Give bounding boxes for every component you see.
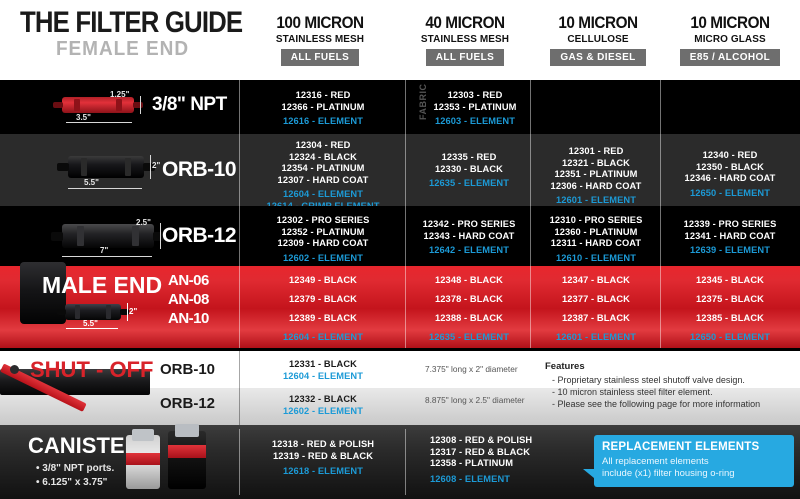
female-row-orb-12: 7" 2.5" ORB-12 12302 - PRO SERIES 12352 …: [0, 206, 800, 266]
column-divider: [530, 206, 531, 266]
dim-length-orb10: 5.5": [84, 178, 99, 187]
cell-an10-40micron: 12388 - BLACK: [410, 313, 528, 325]
dim-line-diameter: [150, 155, 151, 179]
part-code: 12330 - BLACK: [410, 164, 528, 176]
part-code-element: 12650 - ELEMENT: [664, 188, 796, 200]
cell-orb12-40micron: 12342 - PRO SERIES 12343 - HARD COAT 126…: [410, 219, 528, 257]
dim-line-length: [66, 328, 118, 329]
dim-length-orb12: 7": [100, 246, 108, 255]
part-code: 12342 - PRO SERIES: [410, 219, 528, 231]
replacement-elements-title: REPLACEMENT ELEMENTS: [602, 441, 786, 453]
column-divider: [405, 134, 406, 206]
part-code-element: 12610 - ELEMENT: [534, 253, 658, 265]
replacement-elements-callout: REPLACEMENT ELEMENTS All replacement ele…: [594, 435, 794, 487]
part-code: 12340 - RED: [664, 150, 796, 162]
part-code: 12306 - HARD COAT: [534, 181, 658, 193]
feature-item: - 10 micron stainless steel filter eleme…: [552, 387, 713, 397]
column-header-main: 100 MICRON: [248, 14, 392, 32]
callout-tail-icon: [583, 469, 594, 478]
cell-an08-10micron-microglass: 12375 - BLACK: [664, 294, 796, 306]
column-divider: [530, 266, 531, 348]
part-code: 12354 - PLATINUM: [248, 163, 398, 175]
column-header-main: 10 MICRON: [535, 14, 661, 32]
filter-photo-male-inline: [65, 304, 121, 320]
cell-orb10-10micron-cellulose: 12301 - RED 12321 - BLACK 12351 - PLATIN…: [534, 146, 658, 207]
cell-shutoff-orb10-code: 12331 - BLACK: [248, 359, 398, 371]
column-divider: [239, 134, 240, 206]
part-code-element: 12635 - ELEMENT: [410, 178, 528, 190]
cell-an10-10micron-microglass: 12385 - BLACK: [664, 313, 796, 325]
dim-line-diameter: [140, 96, 141, 114]
female-row-38-npt: 3.5" 1.25" 3/8" NPT FABRIC 12316 - RED 1…: [0, 80, 800, 134]
column-divider: [660, 80, 661, 134]
cell-male-element-10micron-cellulose: 12601 - ELEMENT: [534, 332, 658, 344]
row-label-an-08: AN-08: [168, 291, 209, 308]
row-label-shutoff-orb-12: ORB-12: [160, 395, 215, 412]
dim-diameter-38npt: 1.25": [110, 90, 129, 99]
cell-an06-10micron-microglass: 12345 - BLACK: [664, 275, 796, 287]
column-divider: [239, 266, 240, 348]
row-label-an-06: AN-06: [168, 272, 209, 289]
column-divider: [239, 80, 240, 134]
column-divider: [405, 80, 406, 134]
canister-photo-polish: [126, 435, 160, 489]
dim-length-38npt: 3.5": [76, 113, 91, 122]
column-divider: [405, 206, 406, 266]
column-header-sub: MICRO GLASS: [664, 33, 797, 45]
dim-line-diameter: [160, 223, 161, 249]
features-title: Features: [545, 361, 585, 372]
dim-line-length: [68, 188, 142, 189]
dim-line-diameter: [127, 303, 128, 321]
part-code: 12341 - HARD COAT: [664, 231, 796, 243]
female-row-orb-10: 5.5" 2" ORB-10 12304 - RED 12324 - BLACK…: [0, 134, 800, 206]
row-label-orb-10: ORB-10: [162, 158, 236, 182]
cell-an10-100micron: 12389 - BLACK: [248, 313, 398, 325]
filter-guide-sheet: THE FILTER GUIDE FEMALE END 100 MICRON S…: [0, 0, 800, 499]
part-code: 12303 - RED: [425, 90, 525, 102]
part-code-element: 12639 - ELEMENT: [664, 245, 796, 257]
header: THE FILTER GUIDE FEMALE END 100 MICRON S…: [0, 0, 800, 80]
part-code: 12358 - PLATINUM: [430, 458, 580, 470]
part-code: 12339 - PRO SERIES: [664, 219, 796, 231]
cell-an10-10micron-cellulose: 12387 - BLACK: [534, 313, 658, 325]
column-divider: [405, 429, 406, 495]
cell-male-element-10micron-microglass: 12650 - ELEMENT: [664, 332, 796, 344]
filter-photo-orb10: [68, 156, 144, 178]
cell-an06-100micron: 12349 - BLACK: [248, 275, 398, 287]
part-code-element: 12618 - ELEMENT: [248, 466, 398, 478]
column-header-badge: ALL FUELS: [281, 49, 359, 66]
column-header-sub: STAINLESS MESH: [399, 33, 532, 45]
part-code: 12304 - RED: [248, 140, 398, 152]
column-divider: [405, 266, 406, 348]
dim-diameter-orb10: 2": [152, 161, 160, 170]
column-header-main: 40 MICRON: [402, 14, 528, 32]
part-code-element: 12616 - ELEMENT: [248, 116, 398, 128]
male-end-band: 5.5" 2" MALE END AN-06 12349 - BLACK 123…: [0, 266, 800, 348]
section-title-canister: CANISTER: [28, 433, 140, 459]
filter-photo-38npt: [62, 97, 134, 113]
part-code: 12310 - PRO SERIES: [534, 215, 658, 227]
cell-orb12-100micron: 12302 - PRO SERIES 12352 - PLATINUM 1230…: [248, 215, 398, 264]
part-code: 12350 - BLACK: [664, 162, 796, 174]
cell-orb12-10micron-microglass: 12339 - PRO SERIES 12341 - HARD COAT 126…: [664, 219, 796, 257]
cell-an06-40micron: 12348 - BLACK: [410, 275, 528, 287]
replacement-elements-line-2: include (x1) filter housing o-ring: [602, 468, 786, 480]
column-header-main: 10 MICRON: [667, 14, 793, 32]
column-header-badge: E85 / ALCOHOL: [680, 49, 780, 66]
filter-photo-orb12: [62, 224, 154, 248]
column-divider: [239, 351, 240, 425]
dim-note-shutoff-orb10: 7.375" long x 2" diameter: [425, 364, 518, 374]
cell-orb10-40micron: 12335 - RED 12330 - BLACK 12635 - ELEMEN…: [410, 152, 528, 190]
part-code: 12316 - RED: [248, 90, 398, 102]
feature-item: - Please see the following page for more…: [552, 399, 760, 409]
column-header-sub: CELLULOSE: [532, 33, 665, 45]
part-code-element: 12604 - ELEMENT: [248, 189, 398, 201]
row-label-38-npt: 3/8" NPT: [152, 94, 227, 116]
column-header-badge: GAS & DIESEL: [550, 49, 645, 66]
lever-pivot-icon: [10, 365, 19, 374]
part-code: 12324 - BLACK: [248, 152, 398, 164]
row-label-shutoff-orb-10: ORB-10: [160, 361, 215, 378]
canister-bullet: • 6.125" x 3.75": [36, 477, 107, 488]
part-code: 12346 - HARD COAT: [664, 173, 796, 185]
cell-38npt-40micron: 12303 - RED 12353 - PLATINUM 12603 - ELE…: [425, 90, 525, 128]
part-code: 12319 - RED & BLACK: [248, 451, 398, 463]
cell-orb12-10micron-cellulose: 12310 - PRO SERIES 12360 - PLATINUM 1231…: [534, 215, 658, 264]
cell-shutoff-orb12-code: 12332 - BLACK: [248, 394, 398, 406]
part-code: 12321 - BLACK: [534, 158, 658, 170]
column-header-100-micron: 100 MICRON STAINLESS MESH ALL FUELS: [240, 14, 400, 66]
dim-diameter-male: 2": [129, 307, 137, 316]
section-title-male-end: MALE END: [42, 272, 162, 299]
column-header-sub: STAINLESS MESH: [244, 33, 396, 45]
canister-band: CANISTER • 3/8" NPT ports. • 6.125" x 3.…: [0, 425, 800, 499]
part-code: 12335 - RED: [410, 152, 528, 164]
cell-38npt-100micron: 12316 - RED 12366 - PLATINUM 12616 - ELE…: [248, 90, 398, 128]
feature-item: - Proprietary stainless steel shutoff va…: [552, 375, 745, 385]
cell-shutoff-orb10-element: 12604 - ELEMENT: [248, 371, 398, 383]
part-code-element: 12608 - ELEMENT: [430, 474, 580, 486]
page-title: THE FILTER GUIDE: [20, 6, 242, 40]
cell-an08-10micron-cellulose: 12377 - BLACK: [534, 294, 658, 306]
part-code: 12308 - RED & POLISH: [430, 435, 580, 447]
part-code-element: 12602 - ELEMENT: [248, 253, 398, 265]
part-code: 12311 - HARD COAT: [534, 238, 658, 250]
column-divider: [660, 134, 661, 206]
part-code: 12307 - HARD COAT: [248, 175, 398, 187]
column-divider: [660, 266, 661, 348]
column-divider: [239, 429, 240, 495]
column-divider: [530, 134, 531, 206]
column-divider: [530, 80, 531, 134]
cell-an06-10micron-cellulose: 12347 - BLACK: [534, 275, 658, 287]
part-code: 12351 - PLATINUM: [534, 169, 658, 181]
column-header-badge: ALL FUELS: [426, 49, 504, 66]
dim-note-shutoff-orb12: 8.875" long x 2.5" diameter: [425, 395, 525, 405]
cell-orb10-10micron-microglass: 12340 - RED 12350 - BLACK 12346 - HARD C…: [664, 150, 796, 199]
column-divider: [660, 206, 661, 266]
replacement-elements-line-1: All replacement elements: [602, 456, 786, 468]
cell-canister-100micron: 12318 - RED & POLISH 12319 - RED & BLACK…: [248, 439, 398, 478]
cell-shutoff-orb12-element: 12602 - ELEMENT: [248, 406, 398, 418]
column-divider: [239, 206, 240, 266]
cell-male-element-100micron: 12604 - ELEMENT: [248, 332, 398, 344]
part-code: 12309 - HARD COAT: [248, 238, 398, 250]
shutoff-band: SHUT - OFF ORB-10 12331 - BLACK 12604 - …: [0, 351, 800, 425]
part-code: 12318 - RED & POLISH: [248, 439, 398, 451]
part-code: 12317 - RED & BLACK: [430, 447, 580, 459]
cell-an08-40micron: 12378 - BLACK: [410, 294, 528, 306]
row-label-an-10: AN-10: [168, 310, 209, 327]
dim-length-male: 5.5": [83, 319, 98, 328]
part-code: 12302 - PRO SERIES: [248, 215, 398, 227]
dim-line-length: [66, 122, 132, 123]
cell-an08-100micron: 12379 - BLACK: [248, 294, 398, 306]
part-code: 12352 - PLATINUM: [248, 227, 398, 239]
dim-line-length: [62, 256, 152, 257]
row-label-orb-12: ORB-12: [162, 224, 236, 248]
part-code-element: 12642 - ELEMENT: [410, 245, 528, 257]
part-code: 12353 - PLATINUM: [425, 102, 525, 114]
part-code: 12360 - PLATINUM: [534, 227, 658, 239]
part-code: 12343 - HARD COAT: [410, 231, 528, 243]
part-code: 12301 - RED: [534, 146, 658, 158]
canister-photo-black: [168, 431, 206, 489]
cell-canister-10micron-cellulose: 12308 - RED & POLISH 12317 - RED & BLACK…: [430, 435, 580, 485]
canister-bullet: • 3/8" NPT ports.: [36, 463, 114, 474]
part-code-element: 12603 - ELEMENT: [425, 116, 525, 128]
section-title-female-end: FEMALE END: [56, 38, 189, 61]
cell-male-element-40micron: 12635 - ELEMENT: [410, 332, 528, 344]
column-header-10-micron-cellulose: 10 MICRON CELLULOSE GAS & DIESEL: [528, 14, 668, 66]
column-header-10-micron-micro-glass: 10 MICRON MICRO GLASS E85 / ALCOHOL: [660, 14, 800, 66]
column-header-40-micron: 40 MICRON STAINLESS MESH ALL FUELS: [395, 14, 535, 66]
section-title-shut-off: SHUT - OFF: [30, 357, 153, 383]
dim-diameter-orb12: 2.5": [136, 218, 151, 227]
part-code: 12366 - PLATINUM: [248, 102, 398, 114]
cell-orb10-100micron: 12304 - RED 12324 - BLACK 12354 - PLATIN…: [248, 140, 398, 213]
